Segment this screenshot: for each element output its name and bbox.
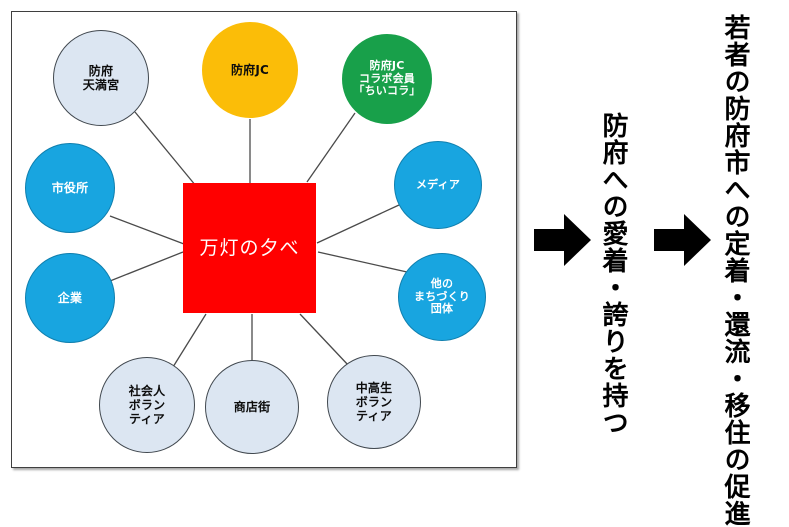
right-arrow-icon-1 xyxy=(534,211,592,269)
node-adult-volunteer-label: 社会人 ボラン ティア xyxy=(100,384,194,426)
node-other-machizukuri-label: 他の まちづくり 団体 xyxy=(399,278,485,317)
node-hofu-jc-collab-label: 防府JC コラボ会員 「ちいコラ」 xyxy=(343,60,431,99)
node-shopping-street[interactable]: 商店街 xyxy=(205,360,299,454)
node-media-label: メディア xyxy=(395,179,481,192)
node-shopping-street-label: 商店街 xyxy=(206,400,298,414)
center-node-label: 万灯の夕べ xyxy=(184,237,315,259)
node-student-volunteer-label: 中高生 ボラン ティア xyxy=(328,381,420,423)
node-hofu-jc-collab[interactable]: 防府JC コラボ会員 「ちいコラ」 xyxy=(342,34,432,124)
node-city-hall-label: 市役所 xyxy=(26,181,114,195)
node-hofu-jc-label: 防府JC xyxy=(203,63,297,77)
node-city-hall[interactable]: 市役所 xyxy=(25,143,115,233)
node-company[interactable]: 企業 xyxy=(25,253,115,343)
node-student-volunteer[interactable]: 中高生 ボラン ティア xyxy=(327,355,421,449)
node-company-label: 企業 xyxy=(26,291,114,305)
node-hofu-tenmangu-label: 防府 天満宮 xyxy=(54,64,148,92)
node-adult-volunteer[interactable]: 社会人 ボラン ティア xyxy=(99,357,195,453)
outcome-text-2: 若者の防府市への定着・還流・移住の促進 xyxy=(722,14,748,527)
node-other-machizukuri[interactable]: 他の まちづくり 団体 xyxy=(398,253,486,341)
node-hofu-tenmangu[interactable]: 防府 天満宮 xyxy=(53,30,149,126)
diagram-canvas: 万灯の夕べ 防府 天満宮 防府JC 防府JC コラボ会員 「ちいコラ」 メディア… xyxy=(0,0,789,481)
outcome-text-1: 防府への愛着・誇りを持つ xyxy=(600,112,626,436)
node-media[interactable]: メディア xyxy=(394,141,482,229)
right-arrow-icon-2 xyxy=(654,211,712,269)
center-node-mantou-no-yube[interactable]: 万灯の夕べ xyxy=(183,183,316,313)
node-hofu-jc[interactable]: 防府JC xyxy=(202,22,298,118)
